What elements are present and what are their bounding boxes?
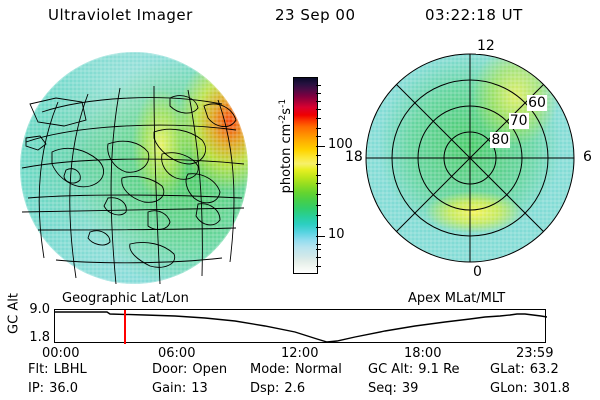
colorbar-unit-exp2: -1 bbox=[278, 99, 288, 108]
colorbar-minor-tick bbox=[316, 93, 321, 94]
status-value: Normal bbox=[295, 362, 342, 377]
status-key: GLon: bbox=[490, 381, 528, 396]
status-value: 36.0 bbox=[49, 381, 78, 396]
status-field-flt: Flt:LBHL bbox=[28, 362, 87, 377]
colorbar-axis-label: photon cm-2s-1 bbox=[278, 66, 294, 226]
colorbar-minor-tick bbox=[316, 205, 321, 206]
colorbar-minor-tick bbox=[316, 249, 321, 250]
mlt-latitude-label-60: 60 bbox=[527, 95, 547, 111]
colorbar-major-tick bbox=[316, 146, 325, 147]
geographic-overlay bbox=[12, 46, 252, 290]
colorbar-minor-tick bbox=[316, 101, 321, 102]
status-key: Flt: bbox=[28, 362, 49, 377]
colorbar-minor-tick bbox=[316, 257, 321, 258]
status-value: 63.2 bbox=[530, 362, 559, 377]
colorbar-tick-label: 10 bbox=[328, 227, 345, 242]
mlt-latitude-label-80: 80 bbox=[490, 132, 510, 148]
colorbar-minor-tick bbox=[316, 183, 321, 184]
status-value: 301.8 bbox=[533, 381, 570, 396]
telemetry-status-bar: Flt:LBHLDoor:OpenMode:NormalGC Alt:9.1 R… bbox=[0, 362, 600, 400]
ultraviolet-imager-window: Ultraviolet Imager 23 Sep 00 03:22:18 UT bbox=[0, 0, 600, 400]
colorbar-minor-tick bbox=[316, 175, 321, 176]
status-key: GC Alt: bbox=[368, 362, 413, 377]
mlt-hour-label-6: 6 bbox=[582, 149, 593, 165]
status-field-dsp: Dsp:2.6 bbox=[250, 381, 305, 396]
colorbar-panel: photon cm-2s-1 10010 bbox=[252, 46, 342, 290]
status-field-mode: Mode:Normal bbox=[250, 362, 342, 377]
observation-time: 03:22:18 UT bbox=[425, 6, 523, 24]
status-value: LBHL bbox=[54, 362, 87, 377]
colorbar-tick-marks bbox=[316, 77, 325, 272]
orbit-x-tick-label: 06:00 bbox=[158, 346, 195, 361]
colorbar-major-tick bbox=[316, 236, 325, 237]
colorbar-minor-tick bbox=[316, 128, 321, 129]
colorbar-minor-tick bbox=[316, 164, 321, 165]
colorbar-minor-tick bbox=[316, 227, 321, 228]
status-value: 39 bbox=[402, 381, 419, 396]
orbit-altitude-panel[interactable]: Geographic Lat/Lon Apex MLat/MLT GC Alt … bbox=[0, 290, 600, 358]
header-bar: Ultraviolet Imager 23 Sep 00 03:22:18 UT bbox=[0, 6, 600, 30]
status-field-gain: Gain:13 bbox=[152, 381, 208, 396]
status-field-ip: IP:36.0 bbox=[28, 381, 78, 396]
status-key: Mode: bbox=[250, 362, 290, 377]
mlt-grid-overlay bbox=[348, 46, 592, 290]
orbit-plot-area[interactable] bbox=[54, 309, 546, 343]
status-value: 9.1 Re bbox=[418, 362, 459, 377]
colorbar-unit-text: photon cm bbox=[279, 124, 294, 194]
colorbar-minor-tick bbox=[316, 244, 321, 245]
status-value: 2.6 bbox=[284, 381, 305, 396]
time-cursor[interactable] bbox=[124, 310, 126, 344]
mlt-hour-label-12: 12 bbox=[476, 38, 496, 54]
colorbar-minor-tick bbox=[316, 85, 321, 86]
status-key: IP: bbox=[28, 381, 44, 396]
orbit-x-tick-label: 18:00 bbox=[404, 346, 441, 361]
orbit-altitude-curve bbox=[55, 310, 547, 344]
page-title: Ultraviolet Imager bbox=[48, 6, 193, 24]
colorbar-minor-tick bbox=[316, 118, 321, 119]
orbit-title-left: Geographic Lat/Lon bbox=[62, 291, 189, 306]
mlt-latitude-label-70: 70 bbox=[509, 113, 529, 129]
mlt-dial-panel[interactable]: 121860807060 bbox=[348, 46, 592, 290]
status-field-door: Door:Open bbox=[152, 362, 227, 377]
status-key: GLat: bbox=[490, 362, 525, 377]
status-key: Dsp: bbox=[250, 381, 279, 396]
colorbar-minor-tick bbox=[316, 215, 321, 216]
status-field-seq: Seq:39 bbox=[368, 381, 418, 396]
colorbar-unit-mid: s bbox=[279, 108, 294, 115]
colorbar-minor-tick bbox=[316, 136, 321, 137]
orbit-title-right: Apex MLat/MLT bbox=[408, 291, 505, 306]
status-value: 13 bbox=[191, 381, 208, 396]
colorbar-minor-tick bbox=[316, 194, 321, 195]
orbit-y-tick-label: 9.0 bbox=[8, 302, 50, 317]
orbit-x-tick-label: 00:00 bbox=[42, 346, 79, 361]
status-field-glat: GLat:63.2 bbox=[490, 362, 559, 377]
colorbar-minor-tick bbox=[316, 109, 321, 110]
status-key: Gain: bbox=[152, 381, 186, 396]
colorbar-minor-tick bbox=[316, 266, 321, 267]
orbit-y-tick-label: 1.8 bbox=[8, 330, 50, 345]
status-key: Seq: bbox=[368, 381, 397, 396]
orbit-x-tick-label: 12:00 bbox=[281, 346, 318, 361]
mlt-hour-label-18: 18 bbox=[344, 149, 364, 165]
status-field-gcalt: GC Alt:9.1 Re bbox=[368, 362, 460, 377]
colorbar-unit-exp1: -2 bbox=[278, 115, 288, 124]
mlt-hour-label-0: 0 bbox=[472, 264, 483, 280]
observation-date: 23 Sep 00 bbox=[275, 6, 355, 24]
status-field-glon: GLon:301.8 bbox=[490, 381, 570, 396]
colorbar-minor-tick bbox=[316, 155, 321, 156]
geographic-image-panel[interactable] bbox=[12, 46, 252, 290]
colorbar-gradient bbox=[293, 77, 318, 274]
status-value: Open bbox=[192, 362, 227, 377]
orbit-x-tick-label: 23:59 bbox=[516, 346, 553, 361]
status-key: Door: bbox=[152, 362, 187, 377]
